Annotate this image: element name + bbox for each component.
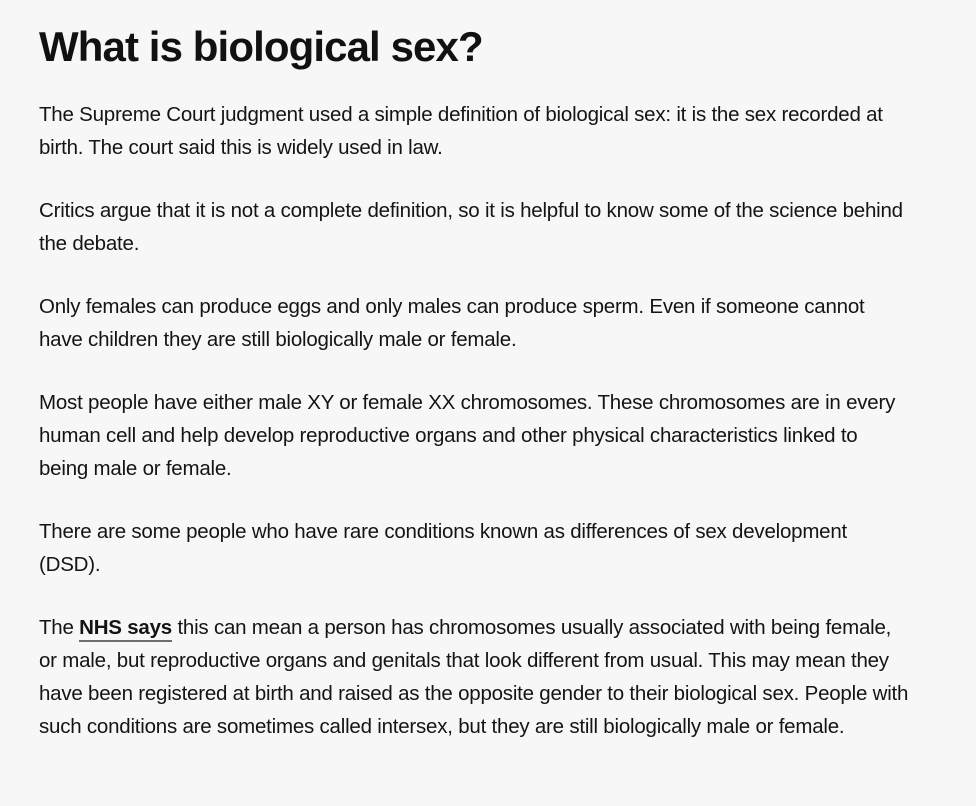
paragraph-nhs: The NHS says this can mean a person has … — [39, 611, 911, 743]
paragraph-critics: Critics argue that it is not a complete … — [39, 194, 911, 260]
paragraph-text: Most people have either male XY or femal… — [39, 391, 895, 480]
paragraph-eggs-sperm: Only females can produce eggs and only m… — [39, 290, 911, 356]
paragraph-definition: The Supreme Court judgment used a simple… — [39, 98, 911, 164]
paragraph-text: Only females can produce eggs and only m… — [39, 295, 864, 351]
article-body: The Supreme Court judgment used a simple… — [39, 98, 936, 743]
paragraph-text: There are some people who have rare cond… — [39, 520, 847, 576]
paragraph-text: The Supreme Court judgment used a simple… — [39, 103, 883, 159]
nhs-says-link[interactable]: NHS says — [79, 616, 172, 642]
paragraph-text: Critics argue that it is not a complete … — [39, 199, 903, 255]
article-container: What is biological sex? The Supreme Cour… — [0, 0, 976, 743]
paragraph-text: The — [39, 616, 79, 639]
paragraph-chromosomes: Most people have either male XY or femal… — [39, 386, 911, 485]
paragraph-dsd: There are some people who have rare cond… — [39, 515, 911, 581]
page-title: What is biological sex? — [39, 22, 936, 72]
